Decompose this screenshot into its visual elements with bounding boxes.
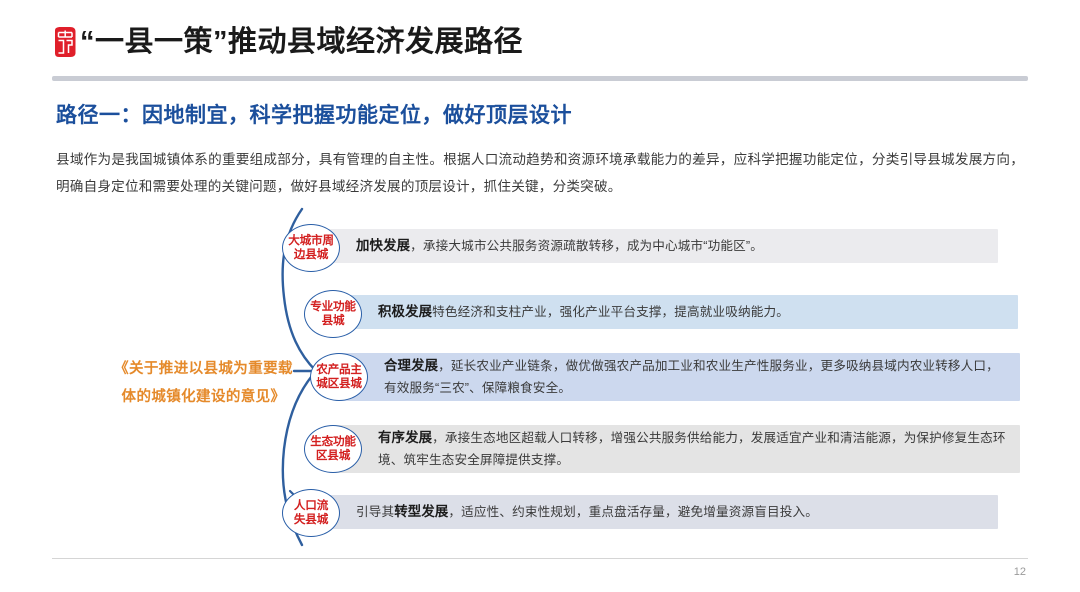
strategy-prefix-5: 引导其 bbox=[356, 505, 394, 519]
badge-specialized-function[interactable]: 专业功能 县城 bbox=[304, 290, 362, 338]
strategy-body-1: ，承接大城市公共服务资源疏散转移，成为中心城市“功能区”。 bbox=[410, 239, 763, 253]
strategy-bar-5: 引导其转型发展，适应性、约束性规划，重点盘活存量，避免增量资源盲目投入。 bbox=[308, 495, 998, 529]
strategy-text-4: 有序发展，承接生态地区超载人口转移，增强公共服务供给能力，发展适宜产业和清洁能源… bbox=[330, 427, 1020, 471]
strategy-text-3: 合理发展，延长农业产业链条，做优做强农产品加工业和农业生产性服务业，更多吸纳县域… bbox=[336, 355, 1020, 399]
badge-line-2b: 县城 bbox=[322, 314, 345, 328]
strategy-bar-1: 加快发展，承接大城市公共服务资源疏散转移，成为中心城市“功能区”。 bbox=[308, 229, 998, 263]
strategy-text-2: 积极发展特色经济和支柱产业，强化产业平台支撑，提高就业吸纳能力。 bbox=[330, 301, 799, 323]
strategy-lead-2: 积极发展 bbox=[378, 304, 432, 319]
strategy-lead-1: 加快发展 bbox=[356, 238, 410, 253]
strategy-body-5: ，适应性、约束性规划，重点盘活存量，避免增量资源盲目投入。 bbox=[448, 505, 818, 519]
strategy-body-2: 特色经济和支柱产业，强化产业平台支撑，提高就业吸纳能力。 bbox=[432, 305, 789, 319]
page-number: 12 bbox=[1014, 566, 1026, 578]
slide-title-row: “一县一策”推动县域经济发展路径 bbox=[52, 26, 523, 58]
page-title: “一县一策”推动县域经济发展路径 bbox=[80, 28, 523, 57]
strategy-bar-2: 积极发展特色经济和支柱产业，强化产业平台支撑，提高就业吸纳能力。 bbox=[330, 295, 1018, 329]
badge-line-4a: 生态功能 bbox=[310, 435, 356, 449]
strategy-lead-3: 合理发展 bbox=[384, 358, 438, 373]
strategy-bar-4: 有序发展，承接生态地区超载人口转移，增强公共服务供给能力，发展适宜产业和清洁能源… bbox=[330, 425, 1020, 473]
badge-agricultural-product[interactable]: 农产品主 城区县城 bbox=[310, 353, 368, 401]
badge-population-loss[interactable]: 人口流 失县城 bbox=[282, 489, 340, 537]
badge-ecological-function[interactable]: 生态功能 区县城 bbox=[304, 425, 362, 473]
badge-line-4b: 区县城 bbox=[316, 449, 350, 463]
county-strategy-diagram: 加快发展，承接大城市公共服务资源疏散转移，成为中心城市“功能区”。 大城市周 边… bbox=[250, 205, 1040, 553]
body-paragraph: 县域作为是我国城镇体系的重要组成部分，具有管理的自主性。根据人口流动趋势和资源环… bbox=[56, 146, 1024, 200]
badge-line-5a: 人口流 bbox=[294, 499, 328, 513]
strategy-body-3: ，延长农业产业链条，做优做强农产品加工业和农业生产性服务业，更多吸纳县域内农业转… bbox=[384, 359, 999, 395]
strategy-text-1: 加快发展，承接大城市公共服务资源疏散转移，成为中心城市“功能区”。 bbox=[308, 235, 773, 257]
badge-large-city-periphery[interactable]: 大城市周 边县城 bbox=[282, 224, 340, 272]
badge-line-3a: 农产品主 bbox=[316, 363, 362, 377]
slide-root: “一县一策”推动县域经济发展路径 路径一：因地制宜，科学把握功能定位，做好顶层设… bbox=[0, 0, 1080, 592]
red-seal-icon bbox=[52, 26, 78, 58]
badge-line-1b: 边县城 bbox=[294, 248, 328, 262]
title-divider bbox=[52, 76, 1028, 81]
badge-line-1a: 大城市周 bbox=[288, 234, 334, 248]
section-subtitle: 路径一：因地制宜，科学把握功能定位，做好顶层设计 bbox=[56, 99, 572, 129]
badge-line-2a: 专业功能 bbox=[310, 300, 356, 314]
strategy-body-4: ，承接生态地区超载人口转移，增强公共服务供给能力，发展适宜产业和清洁能源，为保护… bbox=[378, 431, 1006, 467]
badge-line-3b: 城区县城 bbox=[316, 377, 362, 391]
strategy-bar-3: 合理发展，延长农业产业链条，做优做强农产品加工业和农业生产性服务业，更多吸纳县域… bbox=[336, 353, 1020, 401]
strategy-text-5: 引导其转型发展，适应性、约束性规划，重点盘活存量，避免增量资源盲目投入。 bbox=[308, 501, 828, 523]
strategy-lead-4: 有序发展 bbox=[378, 430, 432, 445]
strategy-lead-5: 转型发展 bbox=[394, 504, 448, 519]
badge-line-5b: 失县城 bbox=[294, 513, 328, 527]
footer-divider bbox=[52, 558, 1028, 559]
